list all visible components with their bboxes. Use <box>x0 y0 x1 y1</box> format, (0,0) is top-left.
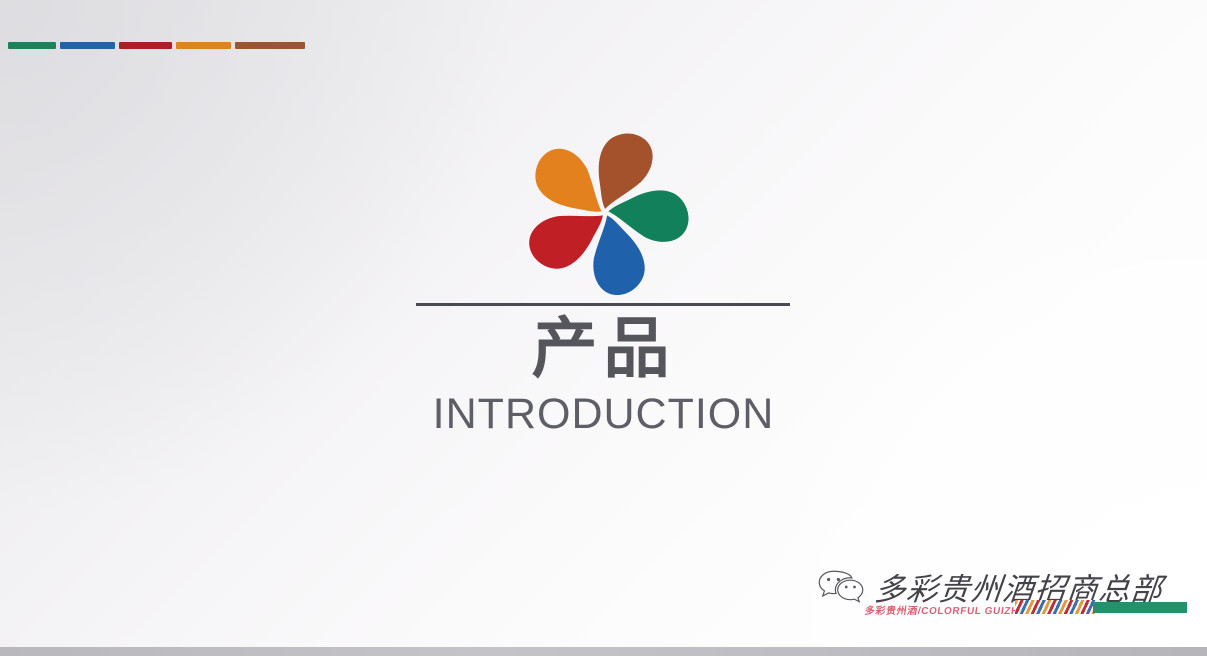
page-title-english: INTRODUCTION <box>0 390 1207 439</box>
slide-canvas: 产品 INTRODUCTION 多彩贵州酒招商总部 多彩贵州酒/COLORFUL… <box>0 0 1207 656</box>
watermark-ribbon <box>1015 600 1187 614</box>
ribbon-stripes <box>1015 600 1097 614</box>
wechat-icon <box>817 568 865 606</box>
color-bar-segment-brown <box>235 42 305 49</box>
ribbon-solid-bar <box>1093 602 1187 613</box>
bottom-strip <box>0 647 1207 656</box>
color-bar-segment-red <box>119 42 172 49</box>
color-bar-segment-blue <box>60 42 115 49</box>
title-divider-rule <box>416 303 790 306</box>
watermark: 多彩贵州酒招商总部 多彩贵州酒/COLORFUL GUIZHOU WINE <box>817 562 1189 642</box>
color-bar-segment-orange <box>176 42 231 49</box>
brand-color-bar <box>8 42 305 49</box>
page-title-chinese: 产品 <box>0 314 1207 383</box>
colorful-guizhou-pinwheel-logo <box>515 130 695 295</box>
color-bar-segment-green <box>8 42 56 49</box>
